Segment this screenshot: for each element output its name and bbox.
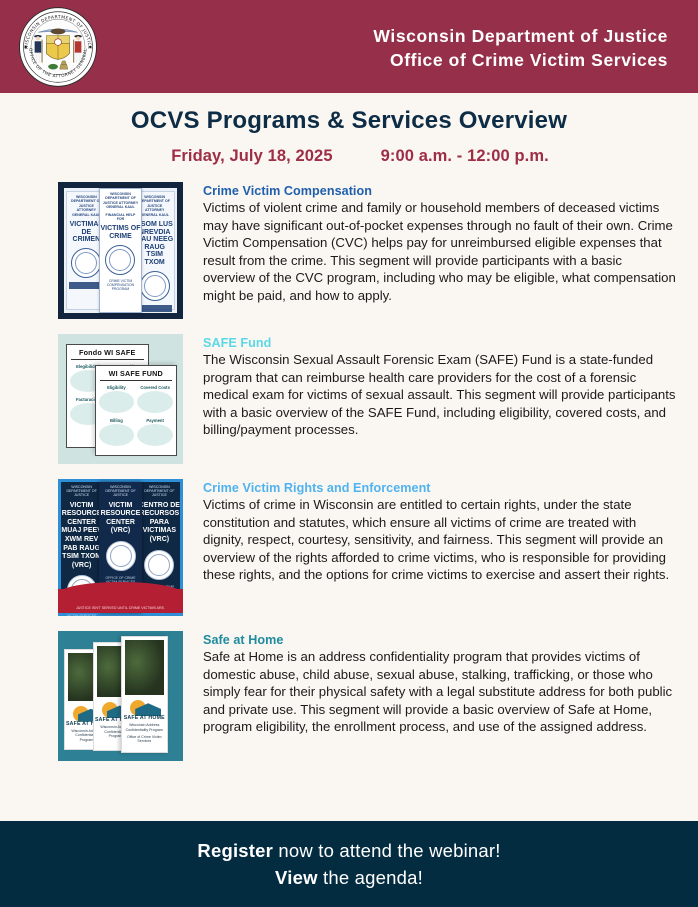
event-date: Friday, July 18, 2025 — [171, 147, 332, 166]
panel-agency-text: WISCONSIN DEPARTMENT OF JUSTICE — [99, 482, 143, 498]
forest-photo — [125, 640, 165, 695]
seal-icon — [71, 248, 101, 278]
panel-tagline: Wisconsin Address Confidentiality Progra… — [122, 720, 168, 732]
agency-name-line1: Wisconsin Department of Justice — [373, 24, 668, 48]
title-block: OCVS Programs & Services Overview Friday… — [0, 93, 698, 166]
panel-agency-text: WISCONSIN DEPARTMENT OF JUSTICE ATTORNEY… — [100, 189, 141, 210]
page-title: OCVS Programs & Services Overview — [0, 107, 698, 135]
event-meta-row: Friday, July 18, 2025 9:00 a.m. - 12:00 … — [0, 147, 698, 166]
flyer-column-heading: Covered Costs — [137, 385, 173, 390]
section-heading: Crime Victim Compensation — [203, 184, 676, 198]
section-crime-victim-rights: WISCONSIN DEPARTMENT OF JUSTICE VICTIM R… — [0, 479, 698, 616]
flyer-title: Fondo WI SAFE — [67, 348, 148, 357]
header-agency-titles: Wisconsin Department of Justice Office o… — [373, 24, 668, 72]
flyer-english: WI SAFE FUND Eligibility Covered Costs B… — [95, 365, 178, 456]
page-header: WISCONSIN DEPARTMENT OF JUSTICE OFFICE O… — [0, 0, 698, 93]
footer-register-line: Register now to attend the webinar! — [197, 840, 500, 862]
footer-agenda-text: the agenda! — [318, 867, 423, 888]
safe-at-home-brochure-thumbnail: SAFE AT HOME Wisconsin Address Confident… — [58, 631, 183, 761]
section-heading: SAFE Fund — [203, 336, 676, 350]
panel-agency-text: WISCONSIN DEPARTMENT OF JUSTICE — [139, 482, 180, 498]
footer-agenda-line: View the agenda! — [275, 867, 423, 889]
panel-footer-text: Office of Crime Victim Services — [122, 732, 168, 744]
panel-footer-text: CRIME VICTIM COMPENSATION PROGRAM — [100, 279, 141, 291]
crime-victim-compensation-brochure-thumbnail: WISCONSIN DEPARTMENT OF JUSTICE ATTORNEY… — [58, 182, 183, 319]
section-body: The Wisconsin Sexual Assault Forensic Ex… — [203, 351, 676, 439]
seal-icon — [105, 245, 135, 275]
footer-register-text: now to attend the webinar! — [273, 840, 501, 861]
flyer-column-heading: Billing — [99, 418, 135, 423]
safe-at-home-logo-icon: SAFE AT HOME — [122, 698, 168, 720]
section-heading: Crime Victim Rights and Enforcement — [203, 481, 676, 495]
seal-icon — [140, 271, 170, 301]
seal-icon — [106, 541, 136, 571]
section-body: Safe at Home is an address confidentiali… — [203, 648, 676, 736]
panel-agency-text: WISCONSIN DEPARTMENT OF JUSTICE — [61, 482, 102, 498]
panel-title-text: VICTIMS OF CRIME — [100, 225, 141, 240]
wisconsin-doj-seal-icon: WISCONSIN DEPARTMENT OF JUSTICE OFFICE O… — [17, 6, 99, 88]
section-safe-fund: Fondo WI SAFE Elegibilidad Costos cubier… — [0, 334, 698, 464]
section-safe-at-home: SAFE AT HOME Wisconsin Address Confident… — [0, 631, 698, 761]
panel-title-text: VICTIM RESOURCE CENTER (VRC) — [99, 502, 143, 536]
event-time: 9:00 a.m. - 12:00 p.m. — [381, 147, 549, 166]
page-footer: Register now to attend the webinar! View… — [0, 821, 698, 907]
safe-at-home-panel-front: SAFE AT HOME Wisconsin Address Confident… — [121, 636, 169, 753]
section-heading: Safe at Home — [203, 633, 676, 647]
seal-icon — [144, 550, 174, 580]
view-agenda-link[interactable]: View — [275, 867, 318, 888]
brochure-tagline: JUSTICE ISN'T SERVED UNTIL CRIME VICTIMS… — [58, 606, 183, 610]
register-link[interactable]: Register — [197, 840, 273, 861]
safe-fund-flyer-thumbnail: Fondo WI SAFE Elegibilidad Costos cubier… — [58, 334, 183, 464]
brochure-panel-english: WISCONSIN DEPARTMENT OF JUSTICE ATTORNEY… — [99, 188, 142, 313]
panel-title-text: VICTIM RESOURCE CENTER MUAJ PEEV XWM REV… — [61, 502, 102, 571]
panel-title-text: CENTRO DE RECURSOS PARA VICTIMAS (VRC) — [139, 502, 180, 545]
logo-text: SAFE AT HOME — [122, 715, 168, 721]
flyer-column-heading: Eligibility — [99, 385, 135, 390]
agency-name-line2: Office of Crime Victim Services — [373, 48, 668, 72]
panel-kicker-text: FINANCIAL HELP FOR — [100, 210, 141, 222]
victim-resource-center-brochure-thumbnail: WISCONSIN DEPARTMENT OF JUSTICE VICTIM R… — [58, 479, 183, 616]
section-body: Victims of crime in Wisconsin are entitl… — [203, 496, 676, 584]
flyer-title: WI SAFE FUND — [96, 369, 177, 378]
section-body: Victims of violent crime and family or h… — [203, 199, 676, 305]
program-sections: WISCONSIN DEPARTMENT OF JUSTICE ATTORNEY… — [0, 182, 698, 761]
section-crime-victim-compensation: WISCONSIN DEPARTMENT OF JUSTICE ATTORNEY… — [0, 182, 698, 319]
flyer-column-heading: Payment — [137, 418, 173, 423]
